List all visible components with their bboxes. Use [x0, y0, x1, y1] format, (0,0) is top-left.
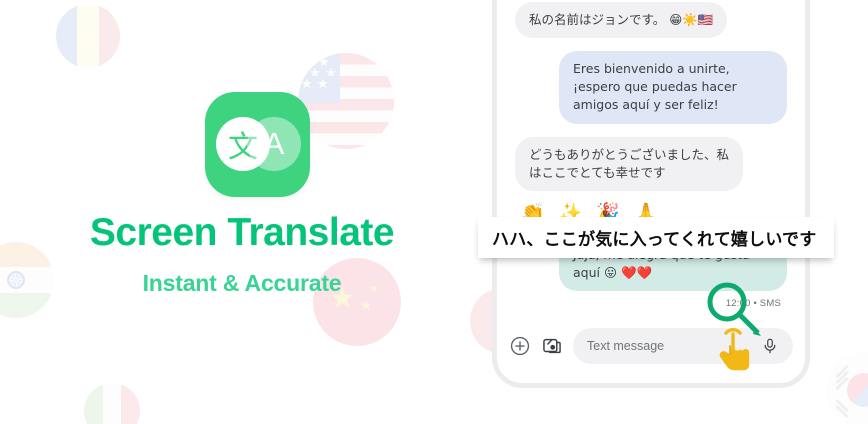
app-logo-icon: 文 A — [205, 92, 310, 197]
message-list: 私の名前はジョンです。 😁☀️🇺🇸 Eres bienvenido a unir… — [497, 0, 805, 223]
france-flag-circle — [56, 4, 120, 68]
logo-target-glyph: A — [247, 117, 301, 171]
page-subtitle: Instant & Accurate — [0, 270, 484, 297]
message-bubble[interactable]: Eres bienvenido a unirte, ¡espero que pu… — [559, 51, 787, 123]
translated-text: ハハ、ここが気に入ってくれて嬉しいです — [492, 225, 816, 250]
message-bubble[interactable]: どうもありがとうございました、私はここでとても幸せです — [515, 137, 743, 191]
translation-overlay-banner[interactable]: ハハ、ここが気に入ってくれて嬉しいです — [478, 217, 834, 258]
korea-flag-circle — [826, 352, 868, 424]
page-title: Screen Translate — [0, 211, 484, 255]
usa-flag-circle: ★ ★ ★ ★ ★ ★ — [298, 53, 394, 149]
promo-panel: ★ ★ ★ ★ ★ ★ ★ ★ ★ 文 A Screen Translate I… — [0, 0, 484, 424]
microphone-icon[interactable] — [761, 337, 779, 355]
italy-flag-circle — [84, 383, 140, 424]
image-camera-icon[interactable] — [541, 335, 563, 357]
tap-cursor-icon — [714, 327, 754, 371]
plus-circle-icon[interactable] — [509, 335, 531, 357]
message-bubble[interactable]: 私の名前はジョンです。 😁☀️🇺🇸 — [515, 2, 727, 38]
promo-screenshot: ★ ★ ★ ★ ★ ★ ★ ★ ★ 文 A Screen Translate I… — [0, 0, 868, 424]
